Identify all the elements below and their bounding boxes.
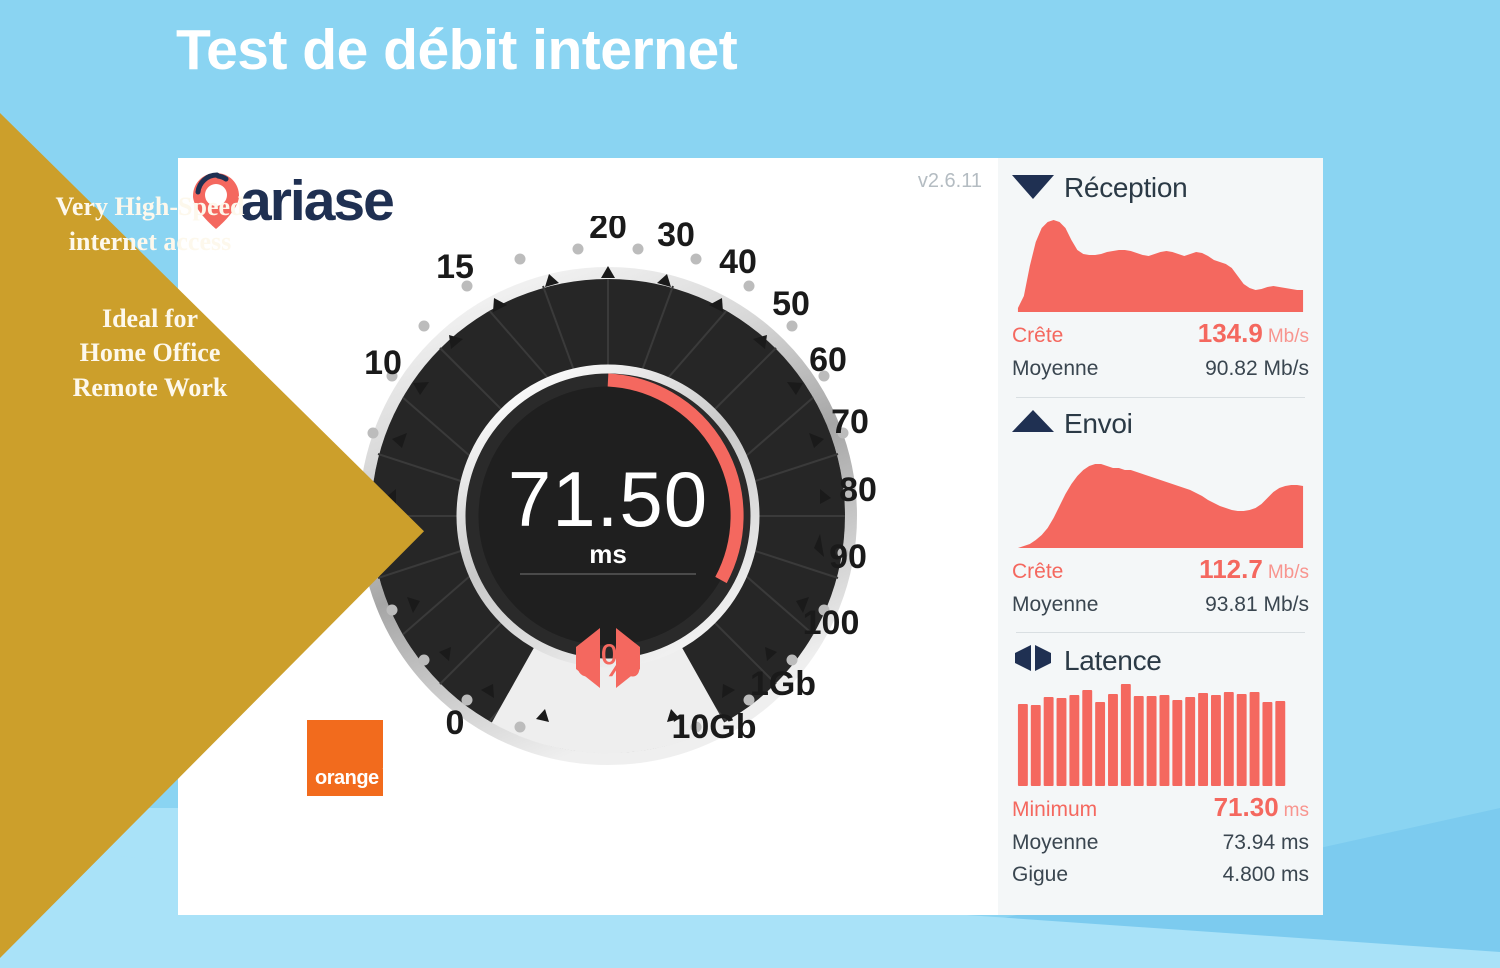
latence-jitter-row: Gigue 4.800 ms	[1012, 859, 1309, 891]
reception-title: Réception	[1064, 172, 1187, 204]
latence-min-value: 71.30	[1214, 792, 1279, 822]
gauge-tick-50: 50	[772, 285, 810, 323]
gauge-tick-10gb: 10Gb	[671, 708, 756, 746]
envoi-avg-value: 93.81 Mb/s	[1205, 589, 1309, 621]
panel-envoi: Envoi Crête 112.7Mb/s Moyenne 93.81 Mb/s	[998, 402, 1323, 634]
panel-reception: Réception Crête 134.9Mb/s Moyenne 90.82 …	[998, 158, 1323, 398]
latence-avg-label: Moyenne	[1012, 827, 1098, 859]
reception-avg-label: Moyenne	[1012, 353, 1098, 385]
page-title: Test de débit internet	[176, 18, 737, 84]
reception-peak-unit: Mb/s	[1268, 326, 1309, 347]
divider-2	[1016, 632, 1305, 633]
reception-peak-row: Crête 134.9Mb/s	[1012, 314, 1309, 353]
promo-line-3: Ideal for	[0, 302, 300, 337]
latence-header: Latence	[1012, 637, 1309, 678]
gauge-tick-100: 100	[803, 604, 860, 642]
gauge-tick-90: 90	[829, 538, 867, 576]
reception-header: Réception	[1012, 166, 1309, 204]
gauge-tick-20: 20	[589, 216, 627, 246]
divider-1	[1016, 397, 1305, 398]
gauge-tick-80: 80	[839, 471, 877, 509]
latence-avg-row: Moyenne 73.94 ms	[1012, 827, 1309, 859]
envoi-avg-label: Moyenne	[1012, 589, 1098, 621]
gauge-progress-label: 0%	[575, 634, 641, 686]
stats-panel: Réception Crête 134.9Mb/s Moyenne 90.82 …	[998, 158, 1323, 915]
reception-sparkline	[1012, 204, 1309, 314]
promo-line-1: Very High-Speed	[0, 190, 300, 225]
reception-avg-value: 90.82 Mb/s	[1205, 353, 1309, 385]
gauge-tick-10: 10	[364, 344, 402, 382]
reception-peak-label: Crête	[1012, 320, 1063, 352]
envoi-peak-row: Crête 112.7Mb/s	[1012, 550, 1309, 589]
gauge-tick-40: 40	[719, 243, 757, 281]
latence-min-unit: ms	[1284, 800, 1309, 821]
latence-title: Latence	[1064, 645, 1162, 677]
app-version: v2.6.11	[918, 170, 982, 193]
gauge-tick-60: 60	[809, 341, 847, 379]
promo-text: Very High-Speed internet access Ideal fo…	[0, 190, 300, 406]
upload-triangle-icon	[1012, 408, 1054, 439]
gauge-tick-1gb: 1Gb	[750, 665, 816, 703]
envoi-peak-unit: Mb/s	[1268, 562, 1309, 583]
envoi-peak-value: 112.7	[1199, 554, 1263, 584]
latence-jitter-value: 4.800 ms	[1223, 859, 1309, 891]
envoi-header: Envoi	[1012, 402, 1309, 440]
gauge-value: 71.50	[508, 455, 708, 543]
promo-line-2: internet access	[0, 225, 300, 260]
gauge-tick-70: 70	[831, 403, 869, 441]
promo-line-4: Home Office	[0, 336, 300, 371]
download-triangle-icon	[1012, 173, 1054, 204]
latence-min-label: Minimum	[1012, 794, 1097, 826]
envoi-peak-label: Crête	[1012, 556, 1063, 588]
gauge-tick-15: 15	[436, 248, 474, 286]
gauge-unit: ms	[589, 539, 627, 569]
promo-line-5: Remote Work	[0, 371, 300, 406]
envoi-sparkline	[1012, 440, 1309, 550]
orange-logo-tm: ™	[382, 767, 390, 776]
latence-jitter-label: Gigue	[1012, 859, 1068, 891]
envoi-title: Envoi	[1064, 408, 1133, 440]
orange-logo-label: orange	[315, 767, 379, 789]
latence-bar-chart	[1012, 678, 1309, 788]
latency-icon	[1012, 643, 1054, 678]
orange-provider-logo: orange™	[307, 720, 383, 796]
reception-avg-row: Moyenne 90.82 Mb/s	[1012, 353, 1309, 385]
envoi-avg-row: Moyenne 93.81 Mb/s	[1012, 589, 1309, 621]
gauge-tick-30: 30	[657, 216, 695, 254]
latence-avg-value: 73.94 ms	[1223, 827, 1309, 859]
panel-latence: Latence	[998, 637, 1323, 890]
reception-peak-value: 134.9	[1198, 318, 1263, 348]
latence-min-row: Minimum 71.30ms	[1012, 788, 1309, 827]
gauge-tick-0: 0	[446, 704, 465, 742]
